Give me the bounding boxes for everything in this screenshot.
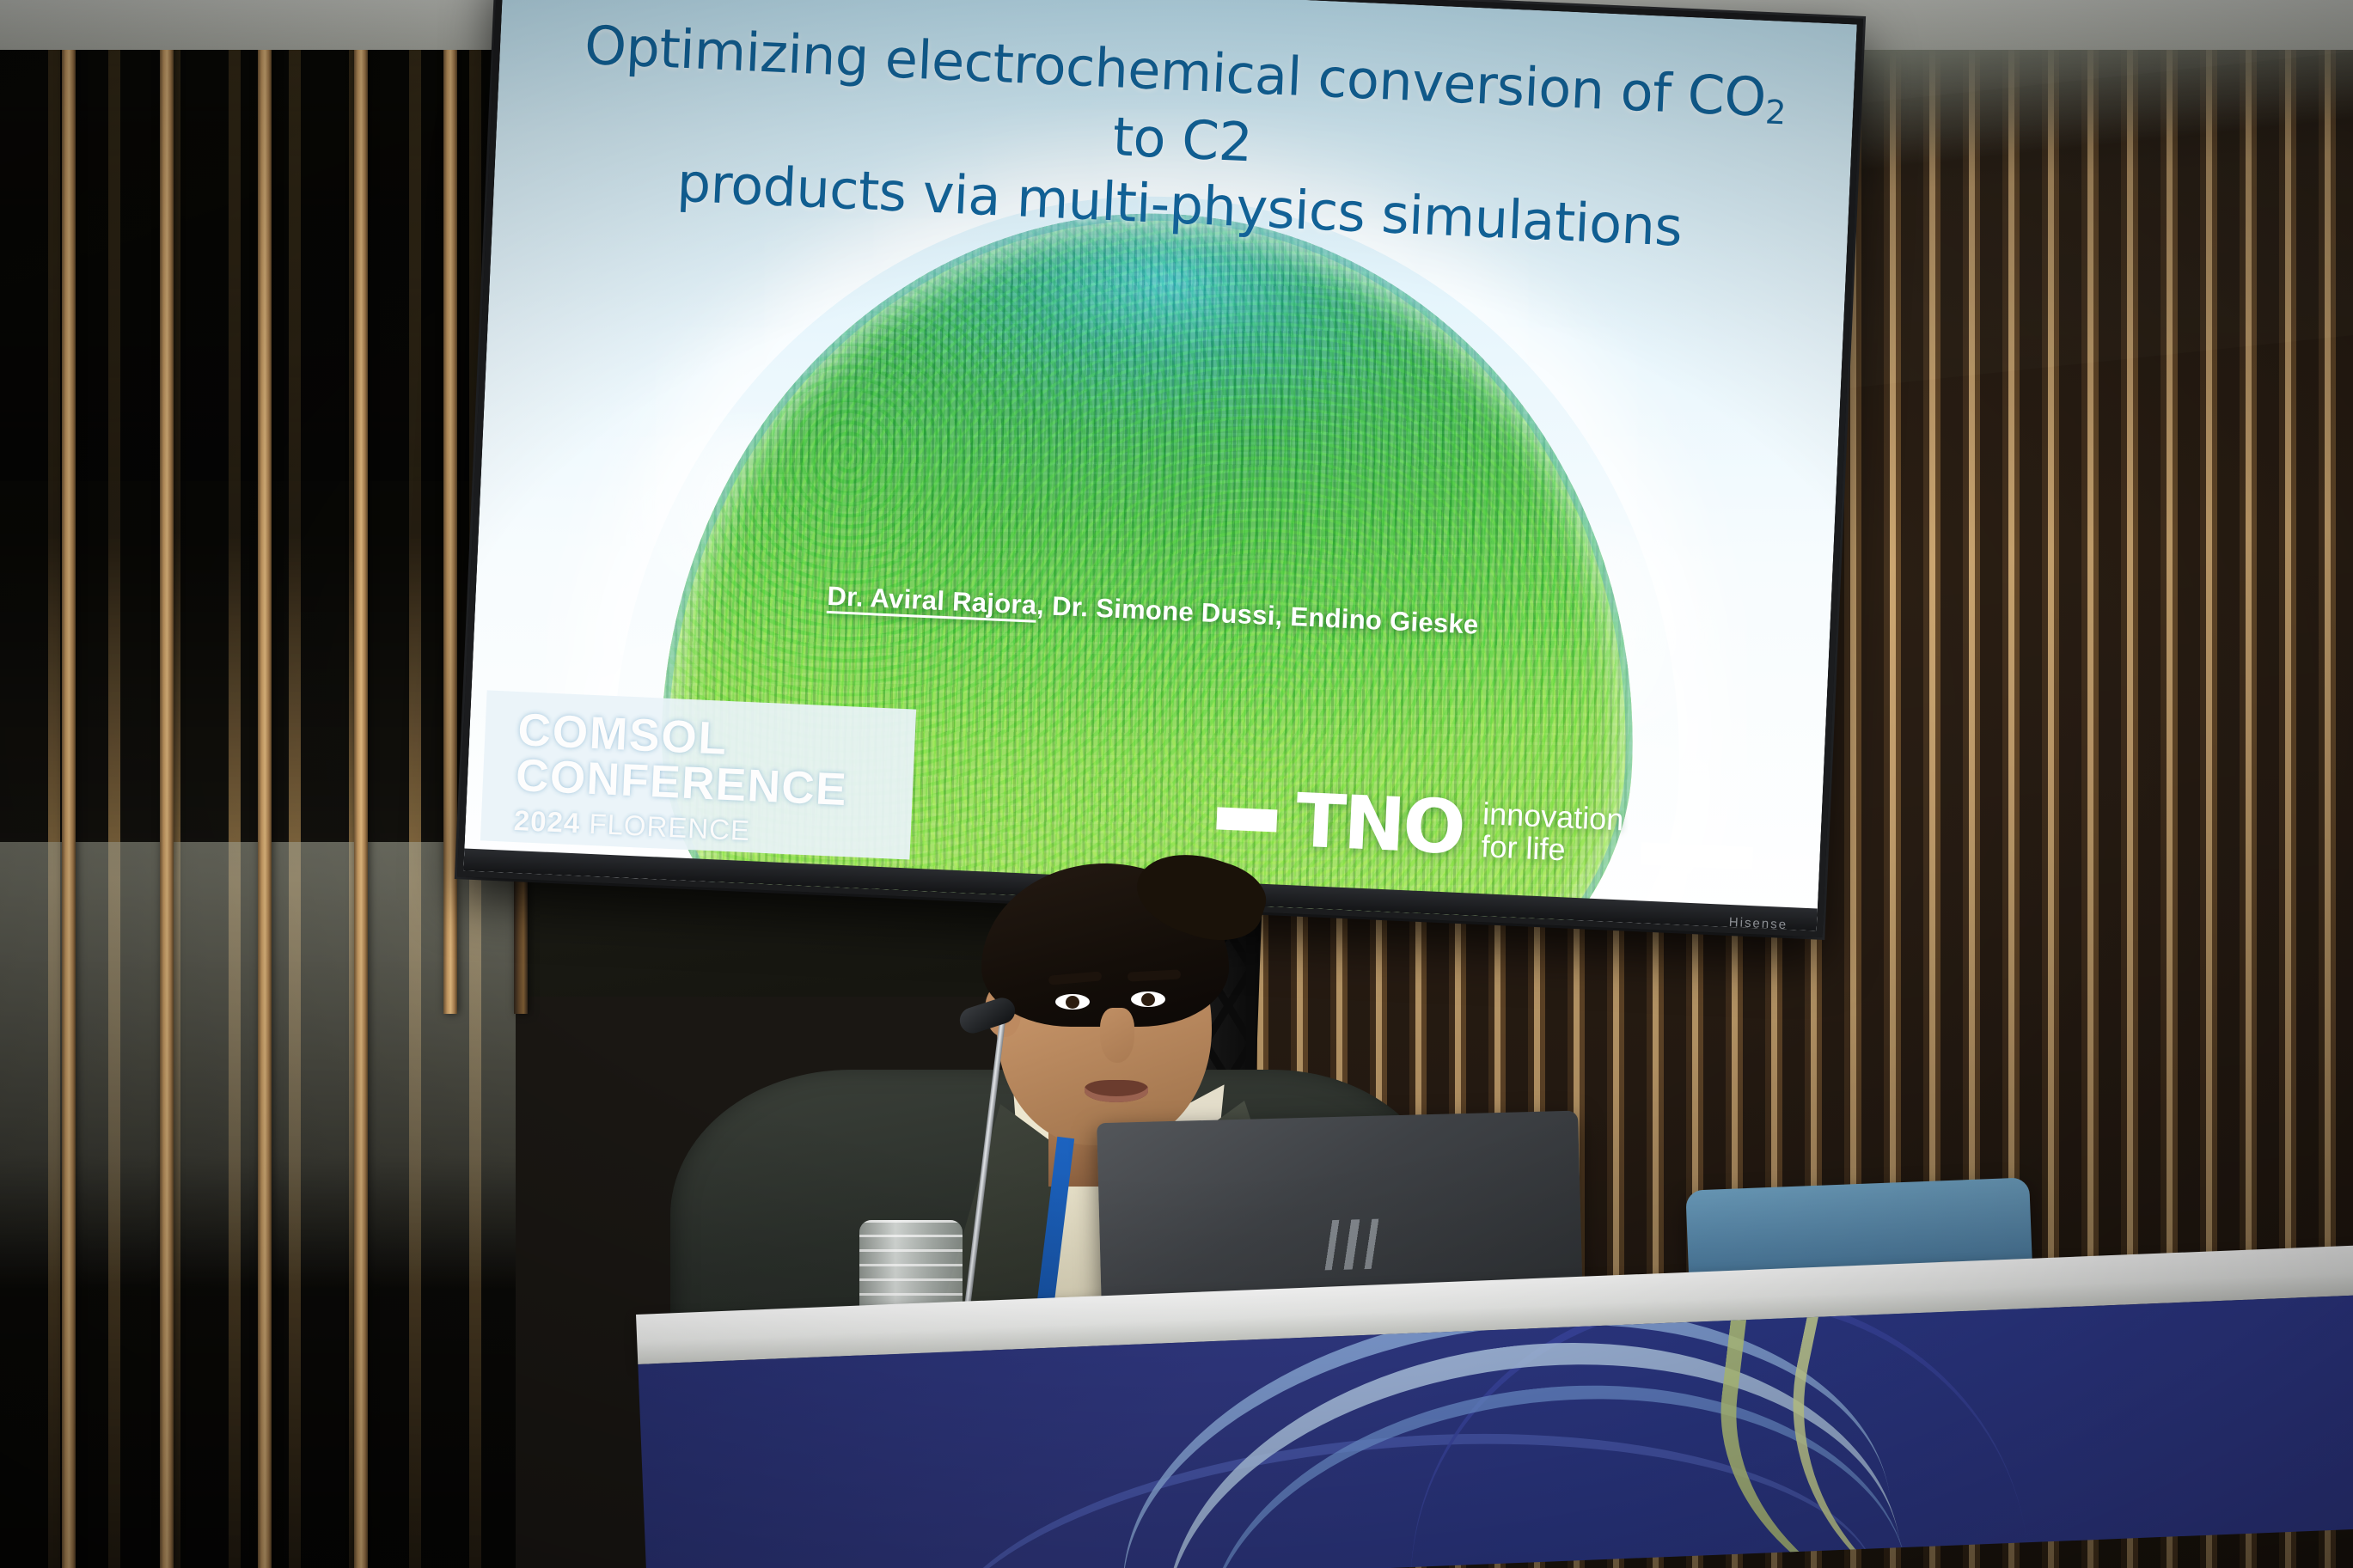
tno-dash-left-icon — [1216, 807, 1277, 832]
pupil — [1141, 993, 1155, 1006]
presenter-mouth — [1085, 1080, 1148, 1102]
pupil — [1066, 996, 1079, 1009]
presenter-hair — [981, 863, 1229, 1027]
presenter-eye-left — [1055, 994, 1090, 1010]
laptop-brand-logo-icon — [1320, 1218, 1388, 1270]
presenter-nose — [1100, 1008, 1134, 1063]
comsol-logo-year: 2024 — [513, 804, 581, 839]
comsol-logo-city: FLORENCE — [589, 808, 751, 846]
tno-tagline: innovation for life — [1481, 797, 1624, 869]
tno-dash-right-icon — [1641, 842, 1753, 869]
conference-room-scene: Optimizing electrochemical conversion of… — [0, 0, 2353, 1568]
presentation-screen[interactable]: Optimizing electrochemical conversion of… — [457, 0, 1863, 937]
tv-brand-label: Hisense — [1728, 915, 1788, 931]
screen-surface: Optimizing electrochemical conversion of… — [463, 0, 1856, 931]
comsol-conference-logo: COMSOL CONFERENCE 2024 FLORENCE — [480, 690, 916, 859]
presenter-eye-right — [1131, 991, 1165, 1007]
slide-title-subscript: 2 — [1764, 93, 1787, 132]
slide-title-line1-post: to C2 — [1111, 106, 1253, 174]
